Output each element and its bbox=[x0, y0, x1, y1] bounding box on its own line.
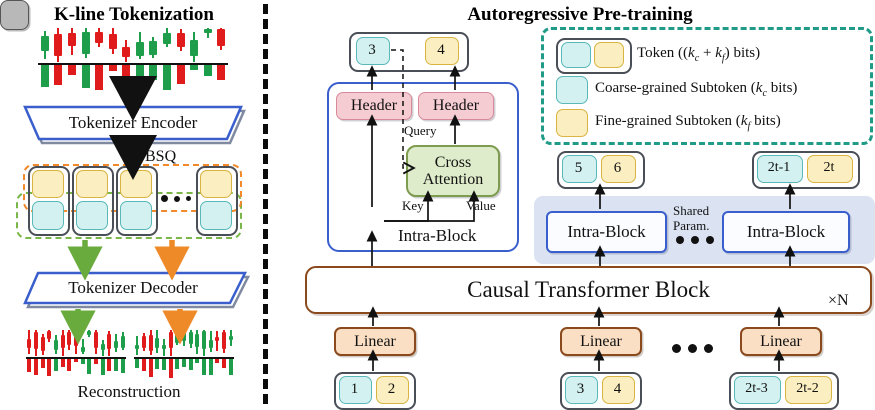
candle bbox=[95, 28, 103, 63]
candle bbox=[169, 330, 173, 357]
volume-bar bbox=[169, 359, 173, 378]
candle bbox=[74, 330, 78, 357]
candle bbox=[175, 330, 179, 357]
volume-bar bbox=[41, 65, 49, 87]
legend-coarse-swatch bbox=[556, 76, 588, 104]
candle bbox=[177, 28, 185, 63]
value-label: Value bbox=[466, 198, 496, 214]
candle bbox=[47, 330, 51, 357]
volume-bar bbox=[163, 65, 171, 90]
causal-transformer-block: Causal Transformer Block bbox=[305, 266, 872, 314]
volume-bar bbox=[114, 359, 118, 371]
volume-bar bbox=[74, 359, 78, 362]
bottom-token-2-fine-label: 4 bbox=[602, 382, 633, 397]
candle bbox=[114, 330, 118, 357]
tokenizer-encoder-label: Tokenizer Encoder bbox=[22, 104, 244, 142]
intra-block-left: Intra-Block bbox=[546, 211, 667, 253]
left-panel-title: K-line Tokenization bbox=[14, 4, 254, 26]
left-token-4-fine bbox=[200, 170, 232, 198]
cross-attention-line1: Cross bbox=[435, 154, 471, 171]
legend-box: Token ((kc + kf) bits) Coarse-grained Su… bbox=[541, 27, 873, 145]
candle bbox=[195, 330, 199, 357]
right-panel-title: Autoregressive Pre-training bbox=[290, 4, 870, 26]
candle bbox=[135, 330, 139, 357]
volume-bar bbox=[101, 359, 105, 375]
volume-bar bbox=[175, 359, 179, 369]
left-token-2-coarse bbox=[76, 201, 108, 230]
bottom-token-1-coarse-label: 1 bbox=[339, 382, 370, 397]
candle bbox=[61, 330, 65, 357]
volume-bar bbox=[68, 65, 76, 75]
bottom-token-2-coarse-label: 3 bbox=[565, 382, 596, 397]
volume-bar bbox=[149, 359, 153, 377]
mid-token-right-fine-label: 2t bbox=[807, 161, 851, 175]
header-left: Header bbox=[336, 92, 412, 120]
header-right: Header bbox=[418, 92, 494, 120]
legend-token-text: Token ((kc + kf) bits) bbox=[637, 45, 760, 64]
volume-bar bbox=[81, 359, 85, 364]
repeat-n-label: ×N bbox=[828, 292, 849, 310]
candle bbox=[67, 330, 71, 357]
kline-input-chart bbox=[38, 28, 228, 90]
legend-fine-text: Fine-grained Subtoken (kf bits) bbox=[595, 113, 781, 132]
top-token-fine-label: 4 bbox=[425, 43, 457, 58]
linear-2: Linear bbox=[560, 327, 642, 356]
linear-3: Linear bbox=[740, 327, 822, 356]
candle bbox=[155, 330, 159, 357]
volume-bar bbox=[34, 359, 38, 375]
volume-bar bbox=[189, 359, 193, 370]
bottom-token-1-fine-label: 2 bbox=[376, 382, 407, 397]
left-token-1-fine bbox=[32, 170, 64, 198]
candle bbox=[82, 28, 90, 63]
tokenizer-encoder: Tokenizer Encoder bbox=[22, 104, 244, 142]
candle bbox=[27, 330, 31, 357]
key-label: Key bbox=[402, 198, 424, 214]
candle bbox=[109, 28, 117, 63]
candle bbox=[217, 28, 225, 63]
candle bbox=[149, 28, 157, 63]
candle bbox=[121, 330, 125, 357]
candle bbox=[41, 330, 45, 357]
candle bbox=[215, 330, 219, 357]
volume-bar bbox=[94, 359, 98, 364]
cross-attention-block: Cross Attention bbox=[406, 145, 500, 197]
volume-bar bbox=[209, 359, 213, 375]
left-token-2-fine bbox=[76, 170, 108, 198]
left-token-4-coarse bbox=[200, 201, 232, 230]
candle bbox=[142, 330, 146, 357]
chart-axis-line bbox=[38, 63, 228, 65]
left-token-ellipsis bbox=[161, 195, 191, 202]
volume-bar bbox=[54, 65, 62, 85]
mid-token-left-fine-label: 6 bbox=[601, 161, 634, 176]
reconstruction-caption: Reconstruction bbox=[0, 382, 258, 402]
bottom-token-3-fine-label: 2t-2 bbox=[785, 382, 830, 396]
candle bbox=[189, 330, 193, 357]
volume-bar bbox=[135, 359, 139, 368]
volume-bar bbox=[27, 359, 31, 372]
candle bbox=[94, 330, 98, 357]
volume-bar bbox=[215, 359, 219, 363]
volume-bar bbox=[136, 65, 144, 89]
legend-fine-swatch bbox=[556, 109, 588, 137]
volume-bar bbox=[217, 65, 225, 80]
volume-bar bbox=[195, 359, 199, 363]
candle bbox=[122, 28, 130, 63]
legend-row-fine: Fine-grained Subtoken (kf bits) bbox=[556, 108, 781, 136]
bottom-ellipsis bbox=[672, 344, 713, 353]
volume-bar bbox=[109, 65, 117, 71]
volume-bar bbox=[155, 359, 159, 369]
candle bbox=[54, 28, 62, 63]
volume-bar bbox=[149, 65, 157, 80]
left-token-1-coarse bbox=[32, 201, 64, 230]
figure-root: K-line Tokenization Autoregressive Pre-t… bbox=[0, 0, 875, 408]
top-token-coarse-label: 3 bbox=[356, 43, 388, 58]
candle bbox=[101, 330, 105, 357]
candle bbox=[204, 28, 212, 63]
candle bbox=[222, 330, 226, 357]
candle bbox=[41, 28, 49, 63]
candle bbox=[149, 330, 153, 357]
volume-bar bbox=[122, 65, 130, 82]
legend-coarse-text: Coarse-grained Subtoken (kc bits) bbox=[595, 80, 797, 99]
mid-token-left-coarse-label: 5 bbox=[562, 161, 595, 176]
volume-bar bbox=[204, 65, 212, 76]
volume-bar bbox=[142, 359, 146, 371]
volume-bar bbox=[202, 359, 206, 375]
mid-token-right-coarse-label: 2t-1 bbox=[757, 161, 801, 175]
candle bbox=[162, 330, 166, 357]
volume-bar bbox=[67, 359, 71, 371]
candle bbox=[107, 330, 111, 357]
candle bbox=[81, 330, 85, 357]
candle bbox=[87, 330, 91, 357]
volume-bar bbox=[229, 359, 233, 375]
tokenizer-decoder: Tokenizer Decoder bbox=[22, 270, 244, 306]
volume-bar bbox=[87, 359, 91, 374]
legend-row-token: Token ((kc + kf) bits) bbox=[556, 38, 760, 70]
volume-bar bbox=[121, 359, 125, 373]
bottom-token-3-coarse-label: 2t-3 bbox=[734, 382, 779, 396]
reconstruction-chart-left bbox=[26, 330, 126, 378]
legend-row-coarse: Coarse-grained Subtoken (kc bits) bbox=[556, 75, 797, 103]
volume-bar bbox=[54, 359, 58, 371]
volume-bar bbox=[182, 359, 186, 367]
tokenizer-decoder-label: Tokenizer Decoder bbox=[22, 270, 244, 306]
volume-bar bbox=[162, 359, 166, 370]
candle bbox=[54, 330, 58, 357]
volume-bar bbox=[82, 65, 90, 88]
linear-1: Linear bbox=[334, 327, 416, 356]
query-label: Query bbox=[404, 123, 437, 139]
panel-divider bbox=[263, 4, 268, 404]
candle bbox=[182, 330, 186, 357]
volume-bar bbox=[177, 65, 185, 84]
candle bbox=[34, 330, 38, 357]
intra-block-detail-label: Intra-Block bbox=[398, 226, 476, 246]
shared-param-line1: Shared bbox=[673, 203, 709, 219]
candle bbox=[229, 330, 233, 357]
cross-attention-line2: Attention bbox=[423, 171, 483, 188]
left-token-3-fine bbox=[120, 170, 152, 198]
candle bbox=[136, 28, 144, 63]
volume-bar bbox=[222, 359, 226, 368]
candle bbox=[190, 28, 198, 63]
legend-token-coarse-swatch bbox=[561, 42, 591, 68]
shared-param-ellipsis bbox=[676, 236, 714, 244]
candle bbox=[202, 330, 206, 357]
volume-bar bbox=[107, 359, 111, 371]
legend-token-fine-swatch bbox=[594, 42, 624, 68]
candle bbox=[209, 330, 213, 357]
volume-bar bbox=[47, 359, 51, 376]
candle bbox=[163, 28, 171, 63]
left-token-3-coarse bbox=[120, 201, 152, 230]
volume-bar bbox=[190, 65, 198, 70]
volume-bar bbox=[41, 359, 45, 368]
intra-block-right: Intra-Block bbox=[722, 211, 850, 253]
reconstruction-chart-right bbox=[134, 330, 234, 378]
candle bbox=[68, 28, 76, 63]
shared-param-line2: Param. bbox=[673, 218, 709, 234]
volume-bar bbox=[95, 65, 103, 90]
volume-bar bbox=[61, 359, 65, 367]
